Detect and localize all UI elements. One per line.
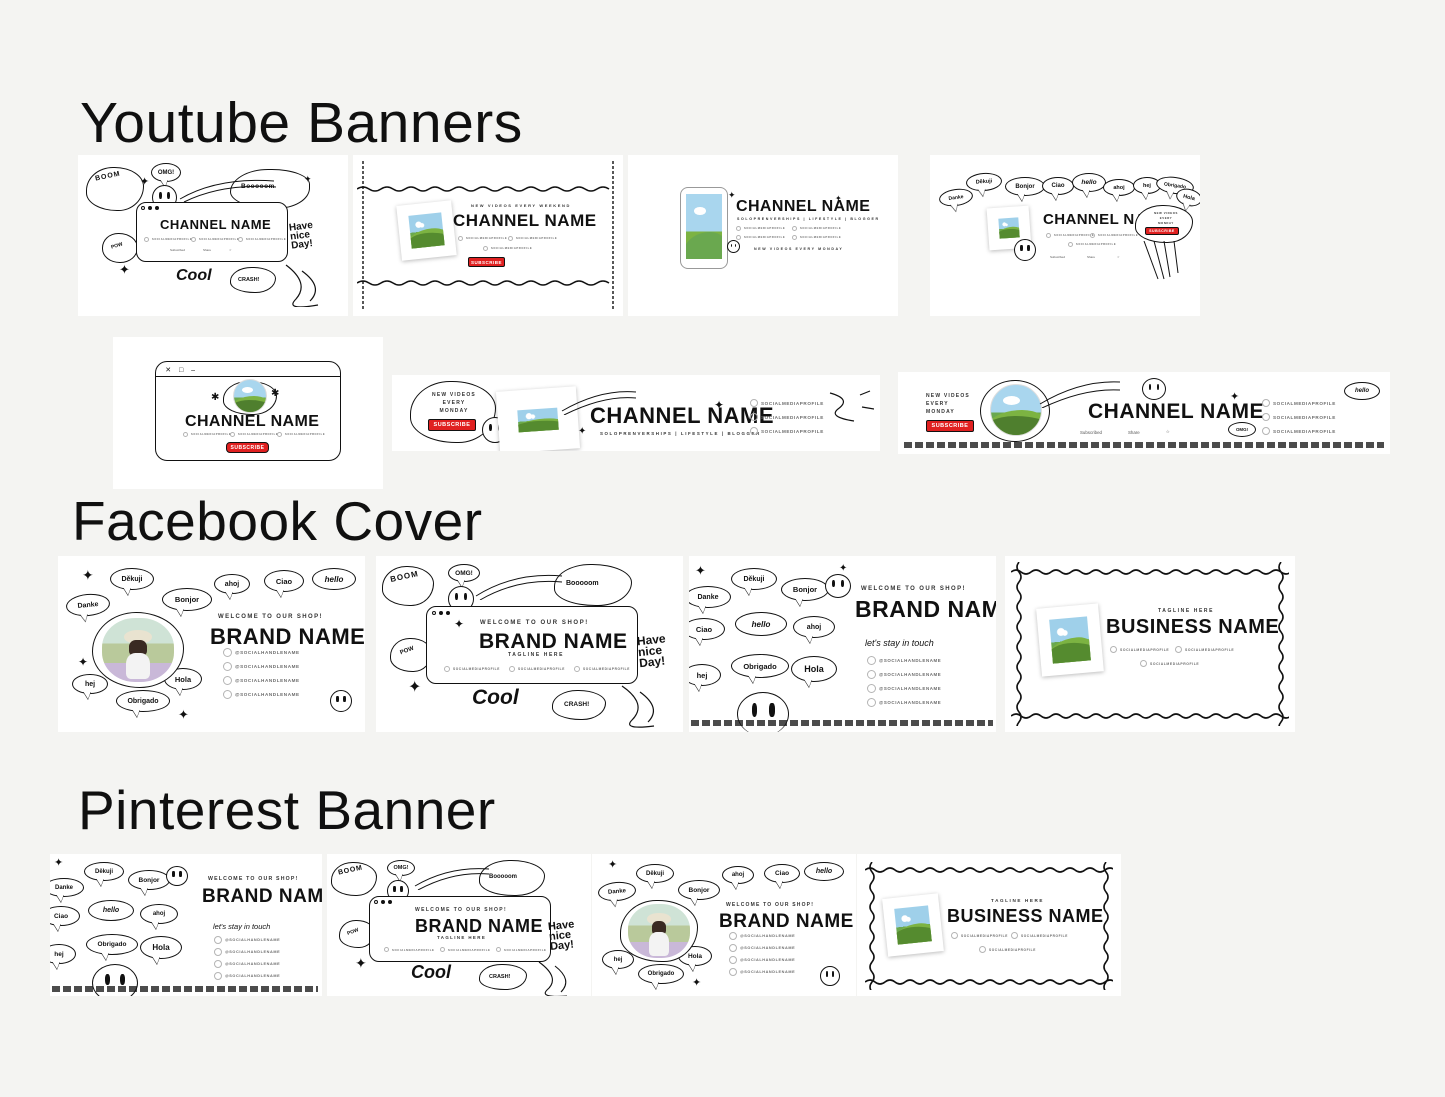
social-profile-label: SOCIALMEDIAPROFILE [761, 401, 824, 406]
subscribe-button[interactable]: SUBSCRIBE [428, 419, 476, 431]
social-handle-label: @SOCIALHANDLENAME [740, 934, 795, 938]
doodle-word-omg: OMG! [151, 163, 181, 182]
sparkle-icon: ✦ [408, 680, 421, 696]
social-profile-label: SOCIALMEDIAPROFILE [989, 948, 1036, 952]
tagline-text: TAGLINE HERE [991, 898, 1044, 903]
social-profile-label: SOCIALMEDIAPROFILE [516, 237, 557, 240]
doodle-word-booooom: Booooom [566, 580, 599, 587]
youtube-banner-phone-mockup[interactable]: CHANNEL NAME SOLOPRENVERSHIPS | LIFESTYL… [628, 155, 898, 316]
new-videos-text: NEW VIDEOSEVERYMONDAY [1146, 211, 1186, 226]
greeting-bubble-ahoj: ahoj [140, 904, 178, 924]
megaphone-tail-decor [1140, 241, 1186, 281]
greeting-bubble-hej: hej [72, 674, 108, 694]
share-button[interactable]: Share [203, 248, 211, 252]
greeting-bubble-hej: hej [689, 664, 721, 686]
greeting-bubble-bonjor: Bonjor [1005, 177, 1045, 196]
smiley-icon-large [737, 692, 789, 732]
facebook-cover-zigzag-polaroid[interactable]: TAGLINE HERE BUSINESS NAME SOCIALMEDIAPR… [1005, 556, 1295, 732]
section-title-facebook: Facebook Cover [72, 489, 483, 553]
categories-text: SOLOPRENVERSHIPS | LIFESTYLE | BLOGGER [737, 217, 880, 221]
greeting-bubble-obrigado: Obrigado [116, 690, 170, 712]
pinterest-banner-zigzag-polaroid[interactable]: TAGLINE HERE BUSINESS NAME SOCIALMEDIAPR… [857, 854, 1121, 996]
greeting-bubble-hello: hello [1072, 173, 1106, 192]
social-profile-label: SOCIALMEDIAPROFILE [800, 236, 841, 239]
social-profile-label: SOCIALMEDIAPROFILE [191, 433, 231, 436]
sparkle-icon: ✦ [608, 860, 617, 871]
channel-name-title: CHANNEL NAME [453, 211, 597, 231]
social-profile-label: SOCIALMEDIAPROFILE [285, 433, 325, 436]
window-controls: ✕ □ – [165, 366, 198, 374]
ground-scribble [904, 442, 1384, 448]
greeting-bubble-hola: Hola [791, 656, 837, 682]
greeting-bubble-danke: Danke [65, 592, 111, 618]
greeting-bubble-danke: Danke [597, 880, 637, 902]
social-profile-label: SOCIALMEDIAPROFILE [744, 236, 785, 239]
smiley-icon [825, 574, 851, 598]
social-profile-label: SOCIALMEDIAPROFILE [1273, 401, 1336, 406]
doodle-word-cool: Cool [472, 686, 519, 710]
youtube-banner-speech-bubbles[interactable]: Danke Děkuji Bonjor Ciao hello ahoj hej … [930, 155, 1200, 316]
greeting-bubble-hello: hello [735, 612, 787, 636]
pinterest-banner-bubbles-left[interactable]: Danke Děkuji Bonjor hello Ciao ahoj Obri… [50, 854, 322, 996]
phone-mockup [680, 187, 728, 269]
social-profile-label: SOCIALMEDIAPROFILE [761, 429, 824, 434]
facebook-cover-comic-frame[interactable]: BOOM OMG! Booooom POW WELCOME TO OUR SHO… [376, 556, 683, 732]
sparkle-icon: ✦ [454, 618, 464, 630]
swirl-decor [620, 682, 680, 730]
facebook-cover-bubbles-left[interactable]: Danke Děkuji Bonjor hello Ciao ahoj Obri… [689, 556, 996, 732]
speed-lines-decor [474, 570, 564, 600]
social-profile-label: SOCIALMEDIAPROFILE [1054, 234, 1094, 237]
greeting-bubble-dekuji: Děkuji [110, 568, 154, 590]
greeting-bubble-bonjor: Bonjor [781, 578, 829, 601]
social-profile-label: SOCIALMEDIAPROFILE [392, 948, 435, 952]
social-handle-label: @SOCIALHANDLENAME [225, 938, 280, 942]
greeting-bubble-bonjor: Bonjor [162, 588, 212, 611]
doodle-word-have-nice-day: Have nice Day! [289, 218, 336, 250]
smiley-icon [727, 240, 740, 253]
polaroid-photo [882, 893, 944, 957]
greeting-bubble-hello: hello [1344, 382, 1380, 400]
smiley-icon [1014, 239, 1036, 261]
brand-name-title: BRAND NAME [719, 911, 854, 933]
social-profile-label: SOCIALMEDIAPROFILE [453, 667, 500, 671]
eyebrow-text: NEW VIDEOS EVERY WEEKEND [471, 203, 571, 208]
business-name-title: BUSINESS NAME [1106, 616, 1279, 639]
social-handle-label: @SOCIALHANDLENAME [879, 658, 941, 663]
youtube-banner-wide-cloud[interactable]: NEW VIDEOSEVERYMONDAY SUBSCRIBE CHANNEL … [392, 375, 880, 451]
social-profile-label: SOCIALMEDIAPROFILE [518, 667, 565, 671]
greeting-bubble-ahoj: ahoj [1103, 179, 1135, 196]
greeting-bubble-hello: hello [88, 900, 134, 921]
smiley-icon [166, 866, 188, 886]
doodle-word-booooom: Booooom [489, 874, 517, 880]
sparkle-icon: ✦ [54, 858, 63, 869]
subscribe-button[interactable]: SUBSCRIBE [226, 442, 269, 453]
social-profile-label: SOCIALMEDIAPROFILE [961, 934, 1008, 938]
greeting-bubble-obrigado: Obrigado [731, 654, 789, 678]
welcome-text: WELCOME TO OUR SHOP! [861, 586, 966, 592]
pinterest-banner-comic-frame[interactable]: BOOM OMG! Booooom POW WELCOME TO OUR SHO… [327, 854, 591, 996]
facebook-cover-bubbles-photo[interactable]: Danke Děkuji Bonjor ahoj Ciao hello hej … [58, 556, 365, 732]
sparkle-icon: ✦ [355, 956, 367, 970]
subscribed-button[interactable]: Subscribed [170, 248, 185, 252]
business-name-title: BUSINESS NAME [947, 906, 1104, 927]
greeting-bubble-obrigado: Obrigado [86, 934, 138, 955]
doodle-word-cool: Cool [411, 962, 451, 983]
share-button[interactable]: Share [1128, 430, 1140, 435]
social-handle-label: @SOCIALHANDLENAME [740, 970, 795, 974]
speed-lines-decor [413, 864, 491, 890]
circle-photo [233, 379, 267, 413]
social-handle-label: @SOCIALHANDLENAME [235, 678, 300, 683]
doodle-word-crash: CRASH! [564, 701, 589, 708]
brand-name-title: BRAND NAME [210, 624, 365, 650]
greeting-bubble-dekuji: Děkuji [965, 172, 1002, 192]
greeting-bubble-ciao: Ciao [689, 618, 725, 640]
ground-scribble [691, 720, 993, 726]
social-profile-label: SOCIALMEDIAPROFILE [448, 948, 491, 952]
new-videos-text: NEW VIDEOSEVERYMONDAY [424, 391, 484, 415]
brand-name-title: BRAND NAME [415, 916, 543, 937]
smiley-icon [820, 966, 840, 986]
social-profile-label: SOCIALMEDIAPROFILE [800, 227, 841, 230]
greeting-bubble-danke: Danke [50, 878, 84, 897]
brand-name-title: BRAND NAME [202, 886, 322, 908]
greeting-bubble-ahoj: ahoj [722, 866, 754, 884]
channel-name-title: CHANNEL NAME [160, 217, 271, 232]
doodle-word-have-nice-day: Have nice Day! [548, 918, 591, 952]
social-profile-label: SOCIALMEDIAPROFILE [1021, 934, 1068, 938]
doodle-word-crash: CRASH! [238, 277, 259, 283]
tagline-text: TAGLINE HERE [1158, 608, 1214, 614]
youtube-banner-browser-window[interactable]: ✕ □ – CHANNEL NAME SOCIALMEDIAPROFILE SO… [113, 337, 383, 489]
doodle-word-cool: Cool [176, 267, 212, 285]
greeting-bubble-obrigado: Obrigado [638, 964, 684, 984]
sparkle-icon: ✦ [82, 568, 94, 582]
lets-stay-in-touch: let's stay in touch [865, 638, 934, 648]
social-handle-label: @SOCIALHANDLENAME [225, 962, 280, 966]
sparkle-icon: ✦ [140, 177, 149, 188]
social-profile-label: SOCIALMEDIAPROFILE [238, 433, 278, 436]
person-photo [628, 904, 690, 958]
welcome-text: WELCOME TO OUR SHOP! [218, 614, 323, 620]
social-profile-label: SOCIALMEDIAPROFILE [744, 227, 785, 230]
social-handle-label: @SOCIALHANDLENAME [225, 950, 280, 954]
greeting-bubble-dekuji: Děkuji [636, 864, 674, 883]
sparkle-icon: ✦ [178, 708, 189, 721]
speed-lines-decor [178, 175, 278, 203]
social-profile-label: SOCIALMEDIAPROFILE [199, 238, 239, 241]
sparkle-icon: ✱ [271, 389, 279, 399]
youtube-banner-doodle-frame[interactable]: BOOM OMG! Booooom POW CHANNEL NAME SOCIA… [78, 155, 348, 316]
channel-name-title: CHANNEL NAME [185, 413, 319, 431]
social-handle-label: @SOCIALHANDLENAME [740, 946, 795, 950]
tagline-text: TAGLINE HERE [437, 935, 486, 940]
social-profile-label: SOCIALMEDIAPROFILE [1098, 234, 1138, 237]
subscribed-button[interactable]: Subscribed [1050, 255, 1065, 259]
subscribed-button[interactable]: Subscribed [1080, 430, 1102, 435]
greeting-bubble-danke: Danke [689, 586, 731, 608]
sparkle-icon: ✦ [839, 564, 847, 574]
welcome-text: WELCOME TO OUR SHOP! [726, 902, 814, 908]
doodle-word-crash: CRASH! [489, 974, 510, 980]
bell-icon[interactable]: ☆ [1117, 255, 1120, 259]
channel-name-title: CHANNEL NAME [1088, 400, 1264, 424]
polaroid-photo [396, 200, 456, 260]
ground-scribble [52, 986, 318, 992]
greeting-bubble-hello: hello [804, 862, 844, 881]
social-profile-label: SOCIALMEDIAPROFILE [1120, 648, 1169, 652]
footer-text: NEW VIDEOS EVERY MONDAY [754, 247, 843, 251]
greeting-bubble-bonjor: Bonjor [128, 870, 170, 890]
social-profile-label: SOCIALMEDIAPROFILE [152, 238, 192, 241]
doodle-word-omg: OMG! [1228, 422, 1256, 437]
social-profile-label: SOCIALMEDIAPROFILE [583, 667, 630, 671]
swirl-decor [537, 958, 589, 996]
greeting-bubble-dekuji: Děkuji [731, 568, 777, 590]
greeting-bubble-bonjor: Bonjor [678, 880, 720, 900]
greeting-bubble-hola: Hola [1174, 186, 1200, 209]
sparkle-icon: ✦ [695, 564, 706, 577]
social-profile-label: SOCIALMEDIAPROFILE [246, 238, 286, 241]
welcome-text: WELCOME TO OUR SHOP! [415, 907, 507, 913]
greeting-bubble-ahoj: ahoj [793, 616, 835, 638]
greeting-bubble-hello: hello [312, 568, 356, 590]
social-profile-label: SOCIALMEDIAPROFILE [466, 237, 507, 240]
social-handle-label: @SOCIALHANDLENAME [235, 692, 300, 697]
lets-stay-in-touch: let's stay in touch [213, 922, 270, 931]
greeting-bubble-ciao: Ciao [1042, 177, 1074, 195]
smiley-icon [330, 690, 352, 712]
social-profile-label: SOCIALMEDIAPROFILE [504, 948, 547, 952]
sparkle-icon: ✦ [692, 978, 701, 989]
social-handle-label: @SOCIALHANDLENAME [879, 686, 941, 691]
social-profile-label: SOCIALMEDIAPROFILE [1150, 662, 1199, 666]
section-title-youtube: Youtube Banners [80, 90, 523, 156]
sparkle-icon: ✦ [835, 195, 842, 203]
social-profile-label: SOCIALMEDIAPROFILE [1273, 429, 1336, 434]
social-profile-label: SOCIALMEDIAPROFILE [1185, 648, 1234, 652]
person-photo [102, 618, 174, 682]
welcome-text: WELCOME TO OUR SHOP! [208, 876, 298, 882]
pinterest-banner-bubbles-photo[interactable]: Danke Děkuji Bonjor ahoj Ciao hello hej … [592, 854, 856, 996]
channel-name-title: CHANNEL NAME [736, 198, 870, 216]
sparkle-icon: ✦ [119, 263, 130, 276]
swirl-decor [826, 389, 874, 427]
channel-name-title: CHANNEL NAME [590, 403, 774, 429]
tagline-text: TAGLINE HERE [508, 652, 564, 658]
greeting-bubble-ahoj: ahoj [214, 574, 250, 594]
bell-icon[interactable]: ☆ [1166, 429, 1170, 435]
social-handle-label: @SOCIALHANDLENAME [235, 664, 300, 669]
swirl-decor [284, 259, 340, 307]
greeting-bubble-danke: Danke [938, 187, 974, 209]
subscribe-button[interactable]: SUBSCRIBE [468, 257, 505, 267]
greeting-bubble-ciao: Ciao [764, 864, 800, 883]
categories-text: SOLOPRENVERSHIPS | LIFESTYLE | BLOGGER [600, 431, 761, 436]
bell-icon[interactable]: ☆ [229, 248, 232, 252]
sparkle-icon: ✦ [1230, 392, 1239, 403]
social-handle-label: @SOCIALHANDLENAME [879, 700, 941, 705]
share-button[interactable]: Share [1087, 255, 1095, 259]
sparkle-icon: ✦ [578, 427, 586, 437]
greeting-bubble-hej: hej [50, 944, 76, 964]
social-handle-label: @SOCIALHANDLENAME [879, 672, 941, 677]
greeting-bubble-ciao: Ciao [264, 570, 304, 592]
social-profile-label: SOCIALMEDIAPROFILE [1273, 415, 1336, 420]
youtube-banner-zigzag-polaroid[interactable]: NEW VIDEOS EVERY WEEKEND CHANNEL NAME SO… [353, 155, 623, 316]
doodle-word-have-nice-day: Have nice Day! [636, 632, 683, 669]
social-profile-label: SOCIALMEDIAPROFILE [1076, 243, 1116, 246]
circle-photo [990, 384, 1042, 436]
brand-name-title: BRAND NAME [479, 630, 628, 654]
section-title-pinterest: Pinterest Banner [78, 778, 496, 842]
sparkle-icon: ✦ [78, 656, 88, 668]
subscribe-button[interactable]: SUBSCRIBE [926, 420, 974, 432]
greeting-bubble-hola: Hola [140, 936, 182, 959]
sparkle-icon: ✱ [211, 393, 219, 403]
greeting-bubble-ciao: Ciao [50, 906, 80, 926]
sparkle-icon: ✦ [728, 191, 736, 200]
brand-name-title: BRAND NAME [855, 596, 996, 623]
welcome-text: WELCOME TO OUR SHOP! [480, 620, 589, 626]
sparkle-icon: ✦ [304, 175, 312, 184]
social-handle-label: @SOCIALHANDLENAME [740, 958, 795, 962]
new-videos-text: NEW VIDEOSEVERYMONDAY [926, 392, 978, 416]
social-profile-label: SOCIALMEDIAPROFILE [491, 247, 532, 250]
social-handle-label: @SOCIALHANDLENAME [225, 974, 280, 978]
subscribe-button[interactable]: SUBSCRIBE [1145, 227, 1179, 235]
doodle-word-omg: OMG! [387, 860, 415, 876]
social-profile-label: SOCIALMEDIAPROFILE [761, 415, 824, 420]
youtube-banner-wide-circle[interactable]: NEW VIDEOSEVERYMONDAY SUBSCRIBE CHANNEL … [898, 372, 1390, 454]
sparkle-icon: ✦ [714, 399, 724, 411]
social-handle-label: @SOCIALHANDLENAME [235, 650, 300, 655]
greeting-bubble-dekuji: Děkuji [84, 862, 124, 881]
polaroid-photo [1036, 603, 1104, 676]
smiley-icon [1142, 378, 1166, 400]
